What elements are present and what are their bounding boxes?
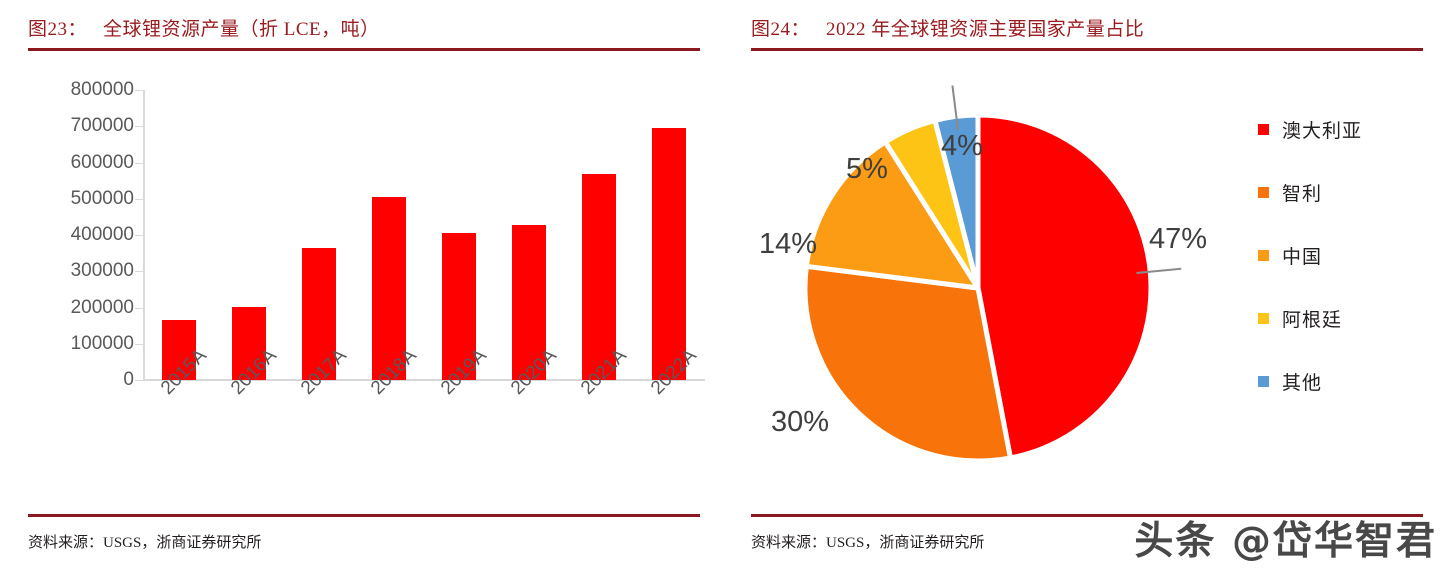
bar-chart: 0100000200000300000400000500000600000700… [28, 58, 700, 478]
legend-swatch-icon [1258, 124, 1269, 135]
legend-swatch-icon [1258, 313, 1269, 324]
figure-24-top-rule [751, 48, 1423, 51]
y-axis-tick-label: 500000 [30, 188, 134, 210]
y-axis-tick [135, 344, 144, 345]
figure-24-source: 资料来源：USGS，浙商证券研究所 [751, 531, 984, 552]
figure-23-panel: 图23：全球锂资源产量（折 LCE，吨） 0100000200000300000… [0, 0, 722, 570]
legend-item[interactable]: 中国 [1258, 224, 1423, 287]
y-axis-tick-label: 0 [30, 369, 134, 391]
y-axis-tick-label: 700000 [30, 115, 134, 137]
legend-item[interactable]: 阿根廷 [1258, 287, 1423, 350]
pie-value-label: 47% [1149, 223, 1207, 256]
legend-label: 澳大利亚 [1282, 116, 1362, 143]
legend-label: 中国 [1282, 242, 1322, 269]
legend-item[interactable]: 其他 [1258, 350, 1423, 413]
pie-chart: 47%30%14%5%4% 澳大利亚智利中国阿根廷其他 [751, 58, 1423, 478]
figure-24-panel: 图24：2022 年全球锂资源主要国家产量占比 47%30%14%5%4% 澳大… [723, 0, 1445, 570]
pie-value-label: 4% [941, 130, 983, 163]
figure-23-number: 图23： [28, 19, 87, 40]
figure-23-source: 资料来源：USGS，浙商证券研究所 [28, 531, 261, 552]
y-axis-tick-label: 300000 [30, 260, 134, 282]
y-axis-tick [135, 199, 144, 200]
figure-23-bottom-rule [28, 514, 700, 517]
legend-swatch-icon [1258, 187, 1269, 198]
y-axis-tick [135, 235, 144, 236]
pie-value-label: 30% [771, 406, 829, 439]
pie-chart-svg [771, 58, 1191, 478]
legend-swatch-icon [1258, 250, 1269, 261]
y-axis-tick-label: 800000 [30, 79, 134, 101]
pie-value-label: 5% [846, 153, 888, 186]
y-axis-tick [135, 163, 144, 164]
y-axis-tick-label: 600000 [30, 152, 134, 174]
y-axis-tick-label: 200000 [30, 297, 134, 319]
bar-chart-bars [144, 90, 704, 380]
figure-page: 图23：全球锂资源产量（折 LCE，吨） 0100000200000300000… [0, 0, 1445, 570]
legend-label: 其他 [1282, 368, 1322, 395]
y-axis-tick [135, 90, 144, 91]
y-axis-tick [135, 308, 144, 309]
y-axis-tick [135, 271, 144, 272]
figure-24-title-text: 2022 年全球锂资源主要国家产量占比 [826, 19, 1144, 40]
y-axis-tick [135, 380, 144, 381]
bar-chart-x-axis-labels: 2015A2016A2017A2018A2019A2020A2021A2022A [144, 384, 714, 474]
bar [652, 128, 686, 380]
figure-23-title-text: 全球锂资源产量（折 LCE，吨） [103, 19, 380, 40]
y-axis-tick-label: 100000 [30, 333, 134, 355]
figure-23-title: 图23：全球锂资源产量（折 LCE，吨） [28, 14, 700, 41]
pie-slice [978, 115, 1151, 458]
figure-23-top-rule [28, 48, 700, 51]
bar-chart-y-axis-labels: 0100000200000300000400000500000600000700… [28, 90, 134, 380]
pie-chart-legend: 澳大利亚智利中国阿根廷其他 [1258, 98, 1423, 413]
pie-slice [805, 266, 1010, 461]
y-axis-tick [135, 126, 144, 127]
pie-value-label: 14% [759, 228, 817, 261]
legend-item[interactable]: 澳大利亚 [1258, 98, 1423, 161]
legend-label: 智利 [1282, 179, 1322, 206]
figure-24-title: 图24：2022 年全球锂资源主要国家产量占比 [751, 14, 1423, 41]
y-axis-tick-label: 400000 [30, 224, 134, 246]
watermark: 头条 @岱华智君 [1134, 510, 1437, 566]
legend-swatch-icon [1258, 376, 1269, 387]
legend-label: 阿根廷 [1282, 305, 1342, 332]
legend-item[interactable]: 智利 [1258, 161, 1423, 224]
figure-24-number: 图24： [751, 19, 810, 40]
